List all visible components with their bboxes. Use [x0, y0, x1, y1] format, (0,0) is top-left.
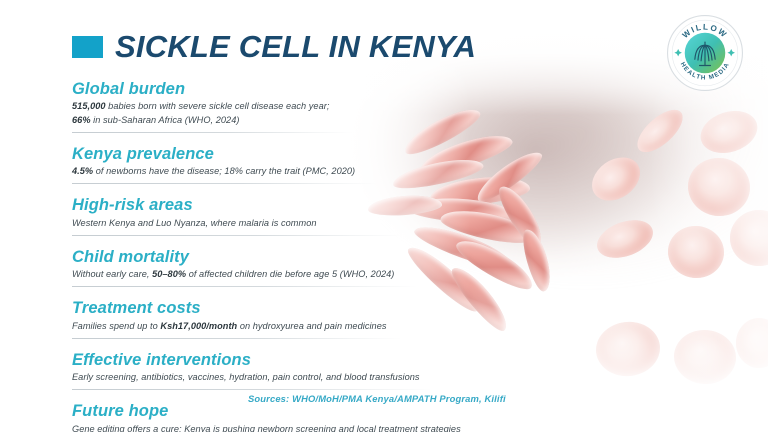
section-body-text: babies born with severe sickle cell dise…	[106, 101, 330, 111]
section-body: Without early care, 50–80% of affected c…	[72, 268, 712, 281]
section-divider	[72, 389, 432, 390]
section-heading: Treatment costs	[72, 299, 712, 318]
section-divider	[72, 132, 352, 133]
section-global-burden: Global burden 515,000 babies born with s…	[72, 80, 712, 145]
section-heading: Effective interventions	[72, 351, 712, 370]
section-body: Gene editing offers a cure; Kenya is pus…	[72, 423, 712, 432]
stat-value: 4.5%	[72, 166, 93, 176]
sections-list: Global burden 515,000 babies born with s…	[72, 80, 712, 432]
section-heading: Kenya prevalence	[72, 145, 712, 164]
section-body: 4.5% of newborns have the disease; 18% c…	[72, 165, 712, 178]
section-body-text: in sub-Saharan Africa (WHO, 2024)	[91, 115, 240, 125]
sources-line: Sources: WHO/MoH/PMA Kenya/AMPATH Progra…	[248, 393, 506, 404]
stat-value: Ksh17,000/month	[160, 321, 237, 331]
willow-health-media-logo: WILLOW HEALTH MEDIA	[666, 14, 744, 92]
title-accent-square	[72, 36, 103, 58]
section-body-text: of affected children die before age 5 (W…	[186, 269, 394, 279]
stat-value: 66%	[72, 115, 91, 125]
section-treatment-costs: Treatment costs Families spend up to Ksh…	[72, 299, 712, 351]
section-body: Early screening, antibiotics, vaccines, …	[72, 371, 712, 384]
section-body-text: on hydroxyurea and pain medicines	[237, 321, 386, 331]
section-body-text: of newborns have the disease; 18% carry …	[93, 166, 355, 176]
section-divider	[72, 338, 402, 339]
section-divider	[72, 235, 402, 236]
red-blood-cell	[730, 210, 768, 266]
section-divider	[72, 286, 417, 287]
page-header: SICKLE CELL IN KENYA	[72, 31, 476, 62]
section-heading: Child mortality	[72, 248, 712, 267]
section-high-risk-areas: High-risk areas Western Kenya and Luo Ny…	[72, 196, 712, 248]
section-body-text: Families spend up to	[72, 321, 160, 331]
section-kenya-prevalence: Kenya prevalence 4.5% of newborns have t…	[72, 145, 712, 197]
infographic-canvas: SICKLE CELL IN KENYA	[0, 0, 768, 432]
red-blood-cell	[736, 318, 768, 368]
stat-value: 515,000	[72, 101, 106, 111]
section-future-hope: Future hope Gene editing offers a cure; …	[72, 402, 712, 432]
section-body: 515,000 babies born with severe sickle c…	[72, 100, 712, 126]
section-child-mortality: Child mortality Without early care, 50–8…	[72, 248, 712, 300]
section-divider	[72, 183, 377, 184]
section-heading: Future hope	[72, 402, 712, 421]
page-title: SICKLE CELL IN KENYA	[115, 31, 476, 62]
section-heading: High-risk areas	[72, 196, 712, 215]
section-body-text: Without early care,	[72, 269, 152, 279]
section-body: Families spend up to Ksh17,000/month on …	[72, 320, 712, 333]
section-body: Western Kenya and Luo Nyanza, where mala…	[72, 217, 712, 230]
stat-value: 50–80%	[152, 269, 186, 279]
section-heading: Global burden	[72, 80, 712, 99]
logo-badge-icon: WILLOW HEALTH MEDIA	[666, 14, 744, 92]
